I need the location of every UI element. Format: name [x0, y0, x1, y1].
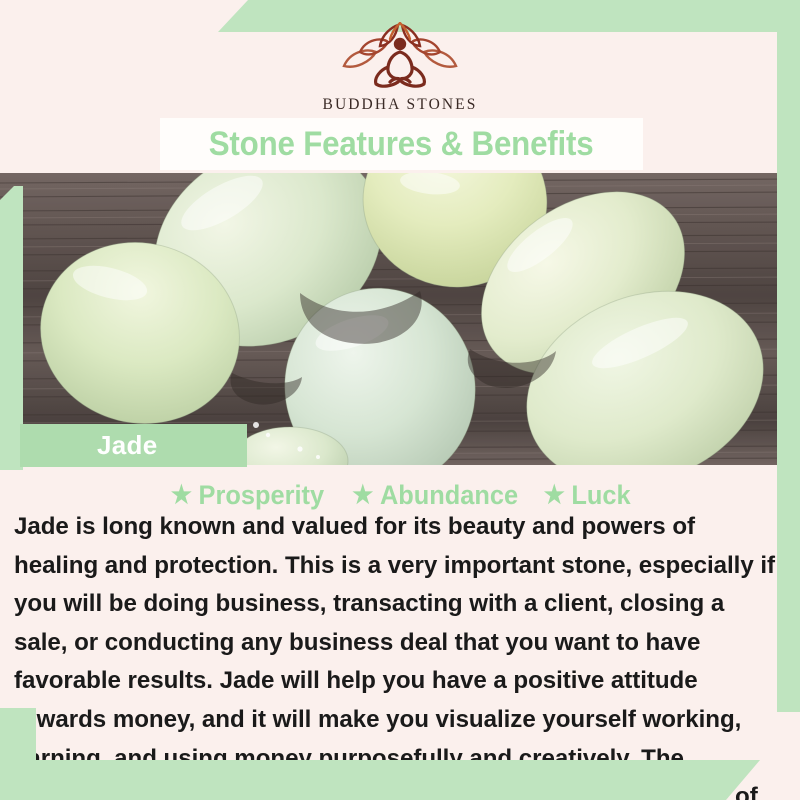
benefits-row: ★ Prosperity ★ Abundance ★ Luck — [0, 478, 800, 512]
brand-block: BUDDHA STONES — [0, 22, 800, 122]
accent-shape-bottom — [0, 760, 760, 800]
stone-description: Jade is long known and valued for its be… — [14, 508, 777, 800]
benefit-label: Prosperity — [199, 482, 325, 509]
stone-name-label: Jade — [20, 424, 247, 467]
lotus-meditation-icon — [330, 22, 470, 94]
benefit-item-prosperity: ★ Prosperity — [171, 482, 324, 509]
stone-photo — [0, 173, 800, 465]
accent-strip-right-lower — [777, 462, 800, 712]
title-banner: Stone Features & Benefits — [160, 118, 643, 170]
page-title: Stone Features & Benefits — [209, 127, 594, 161]
benefit-item-luck: ★ Luck — [544, 482, 631, 509]
benefit-label: Abundance — [380, 482, 518, 509]
stone-benefits-poster: BUDDHA STONES Stone Features & Benefits — [0, 0, 800, 800]
star-icon: ★ — [352, 483, 373, 508]
benefit-label: Luck — [572, 482, 631, 509]
star-icon: ★ — [544, 483, 565, 508]
stone-name-text: Jade — [97, 430, 157, 461]
star-icon: ★ — [171, 483, 192, 508]
benefit-item-abundance: ★ Abundance — [352, 482, 518, 509]
brand-name: BUDDHA STONES — [323, 96, 478, 114]
